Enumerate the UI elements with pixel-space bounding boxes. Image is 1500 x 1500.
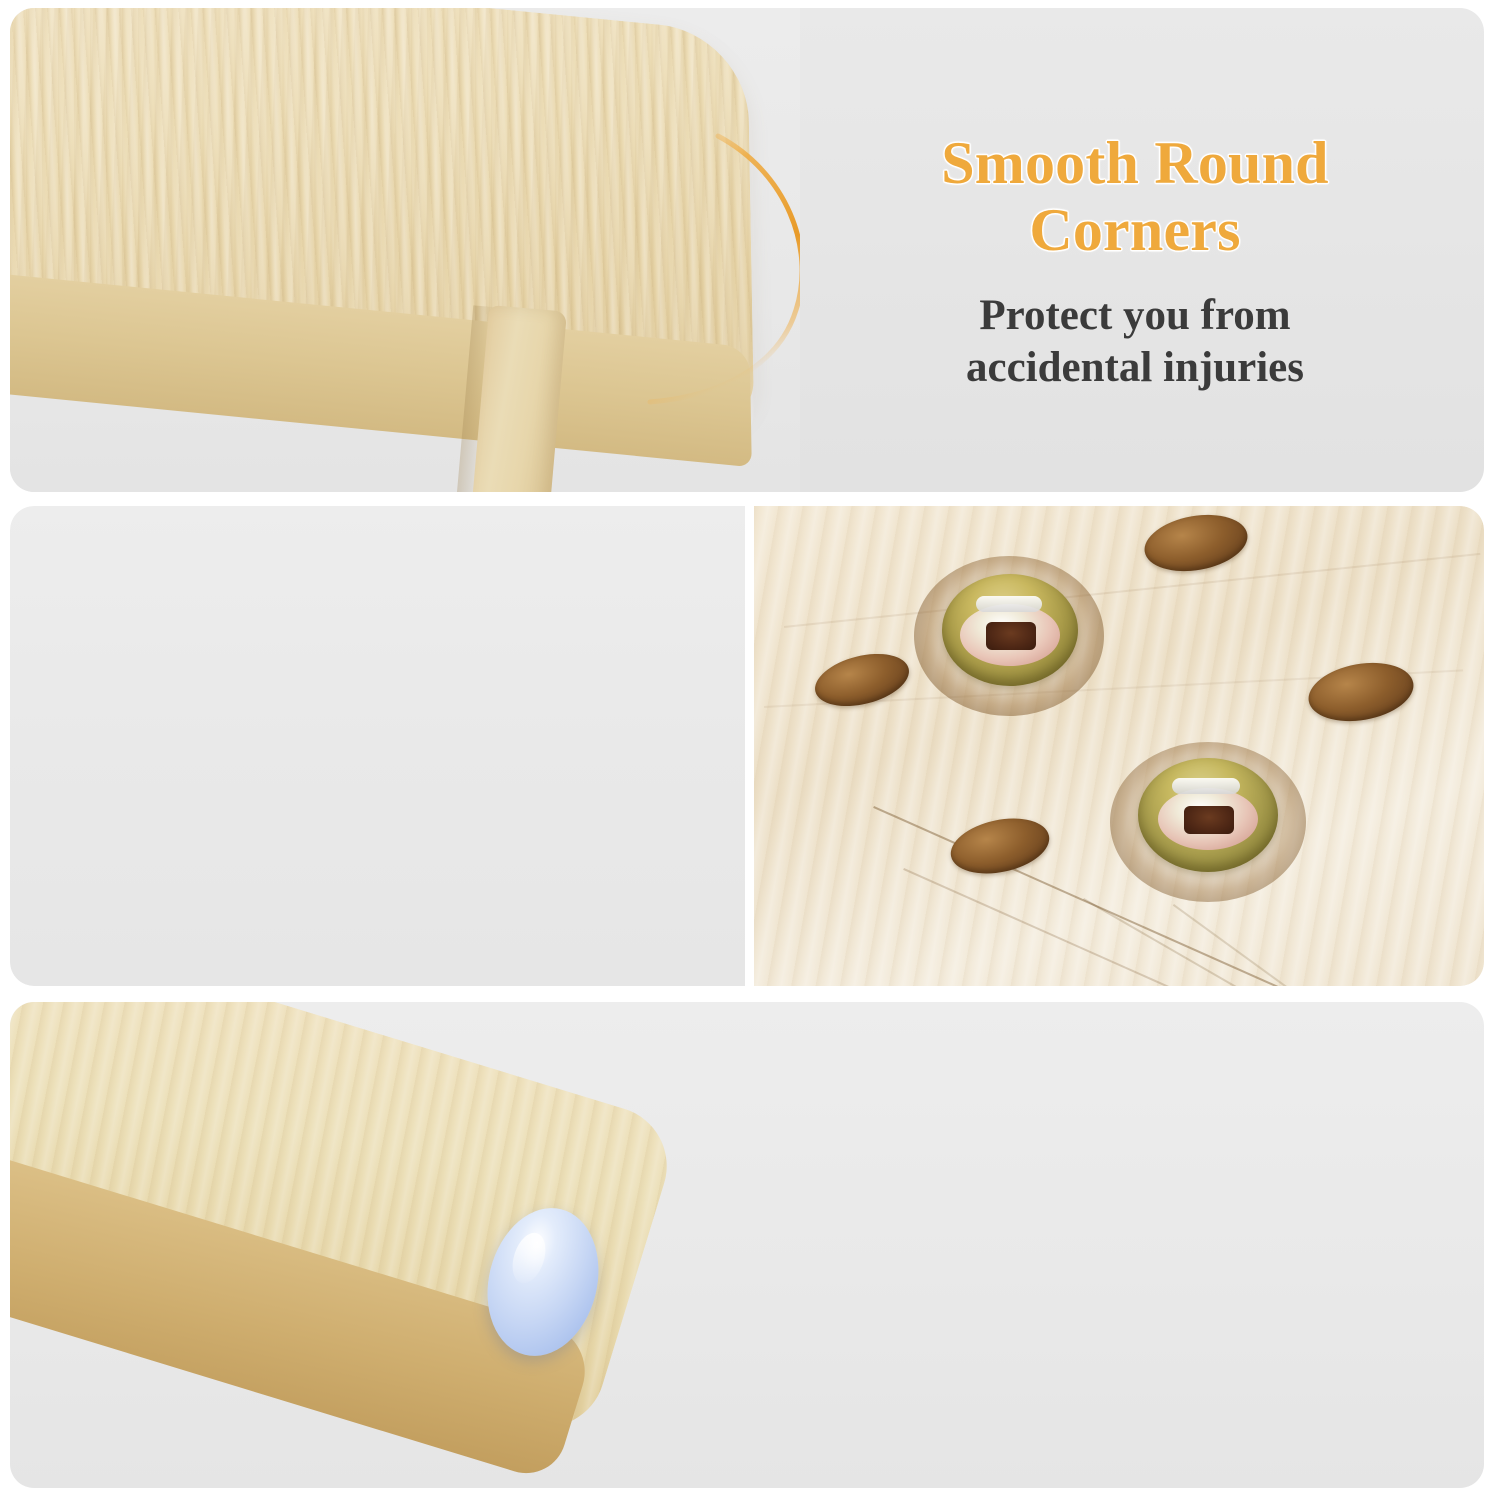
panel-non-slip-foot-pads: Non-Slip Foot Pads Protect your floor fr…: [10, 1002, 1484, 1488]
wood-screws-photo: [754, 506, 1484, 986]
panel-reinforced-triangular-structure: Reinforced Triangular Structure Enhance …: [10, 506, 1484, 986]
panel-1-title: Smooth Round Corners: [785, 130, 1484, 264]
panel-smooth-round-corners: Smooth Round Corners Protect you from ac…: [10, 8, 1484, 492]
screw-drive-slot: [1184, 806, 1234, 834]
panel-1-title-line-1: Smooth Round: [941, 130, 1329, 196]
panel-1-title-line-2: Corners: [1029, 197, 1240, 263]
panel-1-subtitle: Protect you from accidental injuries: [785, 290, 1484, 393]
table-corner-photo: [10, 8, 800, 492]
screw-drive-slot: [986, 622, 1036, 650]
pilot-hole: [1304, 655, 1418, 729]
infographic-board: Smooth Round Corners Protect you from ac…: [0, 0, 1500, 1500]
pilot-hole: [946, 810, 1055, 882]
panel-1-subtitle-line-1: Protect you from: [979, 292, 1290, 339]
table-leg-photo: [10, 1002, 710, 1488]
orange-arc-icon: [610, 128, 800, 418]
panel-1-text-block: Smooth Round Corners Protect you from ac…: [785, 130, 1484, 394]
screw-highlight: [976, 596, 1042, 612]
plank-seam: [1083, 898, 1484, 986]
screw-highlight: [1172, 778, 1240, 794]
plank-seam: [1173, 904, 1484, 986]
panel-1-subtitle-line-2: accidental injuries: [966, 344, 1304, 391]
wood-grain-line: [784, 553, 1480, 628]
panel-2-text-area: [10, 506, 745, 986]
pilot-hole: [1140, 507, 1252, 578]
